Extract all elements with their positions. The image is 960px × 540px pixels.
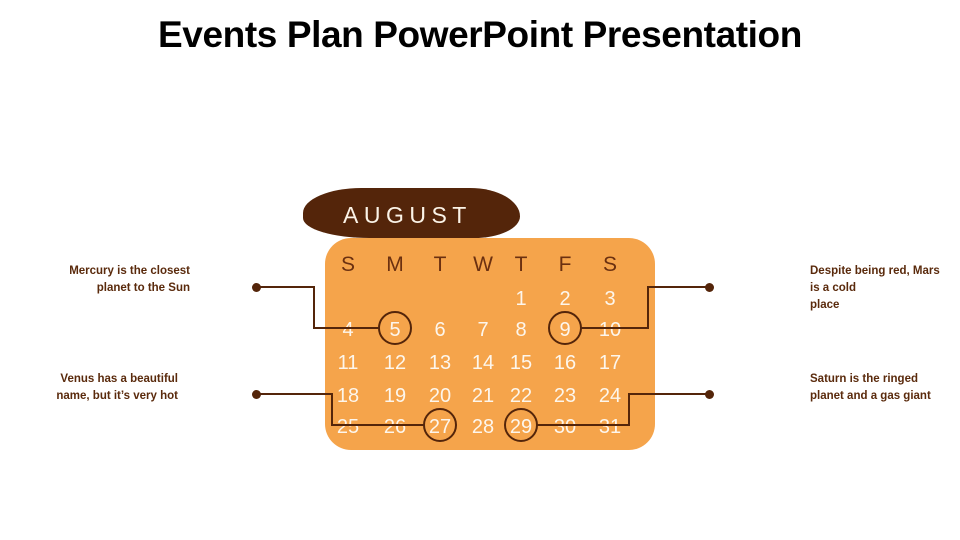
connector-dot-bottom-right xyxy=(705,390,714,399)
connector-segment-bottom-right-h1 xyxy=(537,424,630,426)
callout-bottom-left-line-1: Venus has a beautiful xyxy=(18,371,178,388)
callout-top-right-line-1: Despite being red, Mars xyxy=(810,263,960,280)
connector-segment-top-left-v xyxy=(313,286,315,328)
callout-bottom-right-line-1: Saturn is the ringed xyxy=(810,371,960,388)
calendar-day[interactable]: 8 xyxy=(498,319,544,342)
connector-segment-top-left-h1 xyxy=(256,286,315,288)
calendar-day[interactable]: 26 xyxy=(372,416,418,439)
connector-dot-top-right xyxy=(705,283,714,292)
month-label: AUGUST xyxy=(343,202,472,229)
callout-bottom-left: Venus has a beautiful name, but it’s ver… xyxy=(18,371,178,405)
callout-bottom-right-line-2: planet and a gas giant xyxy=(810,388,960,405)
connector-segment-top-right-v xyxy=(647,286,649,328)
connector-dot-bottom-left xyxy=(252,390,261,399)
calendar-day[interactable]: 6 xyxy=(417,319,463,342)
calendar-day[interactable]: 22 xyxy=(498,385,544,408)
connector-segment-bottom-left-h1 xyxy=(256,393,333,395)
callout-top-left-line-2: planet to the Sun xyxy=(30,280,190,297)
day-highlight-circle-9[interactable] xyxy=(548,311,582,345)
calendar-day[interactable]: 4 xyxy=(325,319,371,342)
connector-segment-bottom-left-v xyxy=(331,393,333,425)
day-highlight-circle-5[interactable] xyxy=(378,311,412,345)
connector-segment-bottom-left-h2 xyxy=(331,424,424,426)
weekday-header-tue: T xyxy=(417,253,463,277)
calendar-day[interactable]: 1 xyxy=(498,288,544,311)
page-title: Events Plan PowerPoint Presentation xyxy=(0,14,960,56)
slide-canvas: Events Plan PowerPoint Presentation AUGU… xyxy=(0,0,960,540)
calendar-day[interactable]: 17 xyxy=(587,352,633,375)
weekday-header-sun: S xyxy=(325,253,371,277)
calendar-day[interactable]: 13 xyxy=(417,352,463,375)
callout-top-right-line-2: is a cold xyxy=(810,280,960,297)
weekday-header-fri: F xyxy=(542,253,588,277)
calendar-day[interactable]: 23 xyxy=(542,385,588,408)
connector-segment-top-left-h2 xyxy=(313,327,379,329)
calendar-day[interactable]: 11 xyxy=(325,352,371,375)
weekday-header-mon: M xyxy=(372,253,418,277)
connector-dot-top-left xyxy=(252,283,261,292)
calendar-day[interactable]: 15 xyxy=(498,352,544,375)
connector-segment-bottom-right-h2 xyxy=(628,393,709,395)
calendar-day[interactable]: 30 xyxy=(542,416,588,439)
weekday-header-sat: S xyxy=(587,253,633,277)
connector-segment-top-right-h2 xyxy=(647,286,709,288)
calendar-day[interactable]: 31 xyxy=(587,416,633,439)
callout-bottom-right: Saturn is the ringed planet and a gas gi… xyxy=(810,371,960,405)
day-highlight-circle-29[interactable] xyxy=(504,408,538,442)
calendar-day[interactable]: 3 xyxy=(587,288,633,311)
calendar-day[interactable]: 19 xyxy=(372,385,418,408)
calendar-day[interactable]: 24 xyxy=(587,385,633,408)
connector-segment-top-right-h1 xyxy=(581,327,649,329)
day-highlight-circle-27[interactable] xyxy=(423,408,457,442)
callout-top-right: Despite being red, Mars is a cold place xyxy=(810,263,960,314)
callout-bottom-left-line-2: name, but it’s very hot xyxy=(18,388,178,405)
calendar-day[interactable]: 20 xyxy=(417,385,463,408)
callout-top-left: Mercury is the closest planet to the Sun xyxy=(30,263,190,297)
calendar-day[interactable]: 2 xyxy=(542,288,588,311)
weekday-header-thu: T xyxy=(498,253,544,277)
callout-top-left-line-1: Mercury is the closest xyxy=(30,263,190,280)
connector-segment-bottom-right-v xyxy=(628,393,630,425)
calendar-day[interactable]: 16 xyxy=(542,352,588,375)
calendar-day[interactable]: 12 xyxy=(372,352,418,375)
callout-top-right-line-3: place xyxy=(810,297,960,314)
calendar-day[interactable]: 10 xyxy=(587,319,633,342)
